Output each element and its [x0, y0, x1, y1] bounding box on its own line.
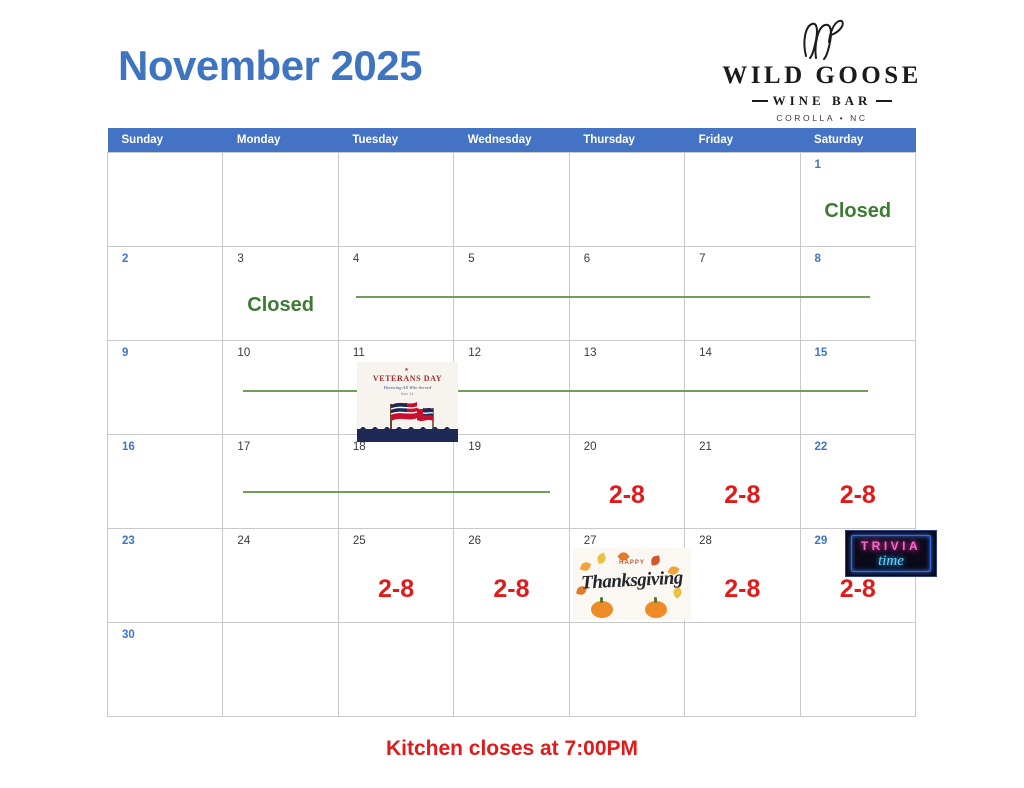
calendar-empty-cell — [223, 623, 338, 717]
day-number: 22 — [815, 442, 828, 454]
closed-label: Closed — [801, 201, 915, 221]
calendar-day-cell[interactable]: 30 — [108, 623, 223, 717]
calendar-day-cell[interactable]: 262-8 — [454, 529, 569, 623]
calendar-body: 1Closed23Closed4567891011121314151617181… — [108, 153, 916, 717]
calendar-day-cell[interactable]: 17 — [223, 435, 338, 529]
day-number: 21 — [699, 442, 712, 454]
day-number: 1 — [815, 160, 821, 172]
hours-label: 2-8 — [454, 577, 568, 602]
calendar-day-cell[interactable]: 13 — [569, 341, 684, 435]
calendar-week-row: 9101112131415 — [108, 341, 916, 435]
calendar-header-row: Sunday Monday Tuesday Wednesday Thursday… — [108, 128, 916, 153]
day-number: 4 — [353, 254, 359, 266]
calendar-empty-cell — [685, 153, 800, 247]
calendar-day-cell[interactable]: 1Closed — [800, 153, 915, 247]
pumpkin-icon — [591, 601, 613, 618]
calendar-day-cell[interactable]: 282-8 — [685, 529, 800, 623]
calendar-empty-cell — [108, 153, 223, 247]
page-title: November 2025 — [118, 42, 422, 90]
calendar-empty-cell — [338, 623, 453, 717]
logo-subtitle-row: WINE BAR — [716, 93, 928, 109]
hours-label: 2-8 — [801, 577, 915, 602]
goose-monogram-icon — [716, 18, 928, 60]
calendar-day-cell[interactable]: 16 — [108, 435, 223, 529]
day-number: 17 — [237, 442, 250, 454]
hours-label: 2-8 — [801, 483, 915, 508]
day-number: 25 — [353, 536, 366, 548]
calendar-day-cell[interactable]: 5 — [454, 247, 569, 341]
veterans-day-stars: ★ — [357, 367, 458, 373]
closed-period-rule-week4 — [243, 491, 550, 493]
logo-name: WILD GOOSE — [716, 62, 928, 90]
calendar-empty-cell — [338, 153, 453, 247]
day-number: 28 — [699, 536, 712, 548]
logo-rule-right — [876, 100, 892, 102]
weekday-header-friday: Friday — [685, 128, 800, 153]
day-number: 12 — [468, 348, 481, 360]
calendar-day-cell[interactable]: 2 — [108, 247, 223, 341]
closed-period-rule-week2 — [356, 296, 870, 298]
calendar-empty-cell — [223, 153, 338, 247]
day-number: 9 — [122, 348, 128, 360]
calendar-day-cell[interactable]: 202-8 — [569, 435, 684, 529]
day-number: 15 — [815, 348, 828, 360]
calendar-week-row: 2324252-8262-827282-8292-8 — [108, 529, 916, 623]
day-number: 23 — [122, 536, 135, 548]
calendar-day-cell[interactable]: 222-8 — [800, 435, 915, 529]
day-number: 14 — [699, 348, 712, 360]
calendar-day-cell[interactable]: 7 — [685, 247, 800, 341]
weekday-header-thursday: Thursday — [569, 128, 684, 153]
calendar-empty-cell — [454, 623, 569, 717]
calendar-day-cell[interactable]: 12 — [454, 341, 569, 435]
calendar-day-cell[interactable]: 19 — [454, 435, 569, 529]
calendar-day-cell[interactable]: 18 — [338, 435, 453, 529]
day-number: 3 — [237, 254, 243, 266]
hours-label: 2-8 — [339, 577, 453, 602]
calendar-empty-cell — [569, 623, 684, 717]
calendar-grid: Sunday Monday Tuesday Wednesday Thursday… — [107, 128, 916, 717]
thanksgiving-image: HAPPY Thanksgiving — [573, 548, 691, 620]
day-number: 2 — [122, 254, 128, 266]
day-number: 11 — [353, 348, 365, 360]
calendar-day-cell[interactable]: 4 — [338, 247, 453, 341]
weekday-header-wednesday: Wednesday — [454, 128, 569, 153]
day-number: 26 — [468, 536, 481, 548]
day-number: 6 — [584, 254, 590, 266]
weekday-header-sunday: Sunday — [108, 128, 223, 153]
wild-goose-logo: WILD GOOSE WINE BAR COROLLA • NC — [716, 18, 928, 123]
day-number: 18 — [353, 442, 366, 454]
calendar-week-row: 30 — [108, 623, 916, 717]
calendar-day-cell[interactable]: 9 — [108, 341, 223, 435]
pumpkin-icon — [645, 601, 667, 618]
day-number: 8 — [815, 254, 821, 266]
day-number: 29 — [815, 536, 828, 548]
calendar-day-cell[interactable]: 212-8 — [685, 435, 800, 529]
calendar-day-cell[interactable]: 10 — [223, 341, 338, 435]
calendar-empty-cell — [800, 623, 915, 717]
calendar-day-cell[interactable]: 23 — [108, 529, 223, 623]
calendar-empty-cell — [685, 623, 800, 717]
day-number: 27 — [584, 536, 597, 548]
calendar-week-row: 16171819202-8212-8222-8 — [108, 435, 916, 529]
day-number: 5 — [468, 254, 474, 266]
hours-label: 2-8 — [685, 577, 799, 602]
calendar-day-cell[interactable]: 14 — [685, 341, 800, 435]
weekday-header-monday: Monday — [223, 128, 338, 153]
calendar-week-row: 23Closed45678 — [108, 247, 916, 341]
calendar-day-cell[interactable]: 24 — [223, 529, 338, 623]
day-number: 24 — [237, 536, 250, 548]
thanksgiving-happy-text: HAPPY — [573, 560, 691, 566]
day-number: 19 — [468, 442, 481, 454]
logo-rule-left — [752, 100, 768, 102]
calendar-day-cell[interactable]: 6 — [569, 247, 684, 341]
logo-subtitle: WINE BAR — [773, 93, 872, 109]
trivia-time-word: time — [846, 553, 936, 570]
day-number: 10 — [237, 348, 250, 360]
day-number: 7 — [699, 254, 705, 266]
calendar-empty-cell — [569, 153, 684, 247]
footer-note: Kitchen closes at 7:00PM — [0, 737, 1024, 761]
closed-period-rule-week3 — [243, 390, 868, 392]
closed-label: Closed — [223, 295, 337, 315]
weekday-header-saturday: Saturday — [800, 128, 915, 153]
trivia-word: TRIVIA — [846, 539, 936, 553]
hours-label: 2-8 — [685, 483, 799, 508]
veterans-day-image: ★ VETERANS DAY Honoring All Who Served N… — [357, 362, 458, 442]
day-number: 13 — [584, 348, 597, 360]
calendar-day-cell[interactable]: 15 — [800, 341, 915, 435]
calendar-empty-cell — [454, 153, 569, 247]
day-number: 16 — [122, 442, 135, 454]
hours-label: 2-8 — [570, 483, 684, 508]
day-number: 30 — [122, 630, 135, 642]
logo-city: COROLLA • NC — [716, 113, 928, 123]
calendar-day-cell[interactable]: 3Closed — [223, 247, 338, 341]
trivia-time-image: TRIVIA time — [845, 530, 937, 577]
crowd-silhouette-icon — [357, 429, 458, 442]
calendar-day-cell[interactable]: 252-8 — [338, 529, 453, 623]
veterans-day-title: VETERANS DAY — [357, 374, 458, 383]
calendar-week-row: 1Closed — [108, 153, 916, 247]
weekday-header-tuesday: Tuesday — [338, 128, 453, 153]
page-header: November 2025 WILD GOOSE WINE BAR COROLL… — [0, 0, 1024, 128]
calendar-day-cell[interactable]: 8 — [800, 247, 915, 341]
day-number: 20 — [584, 442, 597, 454]
